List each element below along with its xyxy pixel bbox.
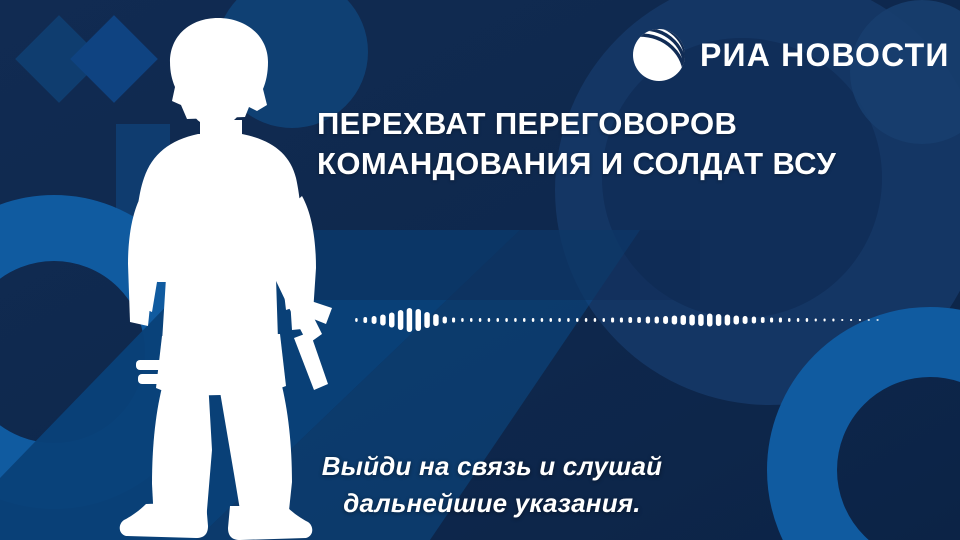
waveform-bar [823, 319, 825, 322]
waveform-bar [628, 317, 632, 323]
headline-line-1: ПЕРЕХВАТ ПЕРЕГОВОРОВ [317, 104, 942, 144]
waveform-bar [797, 318, 799, 322]
waveform-bar [505, 318, 507, 322]
waveform-bar [355, 318, 357, 322]
page-title: ПЕРЕХВАТ ПЕРЕГОВОРОВ КОМАНДОВАНИЯ И СОЛД… [317, 104, 942, 185]
waveform-bar [488, 318, 490, 322]
waveform-bar [514, 318, 516, 322]
waveform-bar [452, 318, 455, 323]
waveform-bar [398, 310, 403, 330]
ria-globe-icon [631, 27, 687, 83]
waveform-bar [681, 315, 686, 325]
waveform-bar [815, 319, 817, 322]
waveform-bar [363, 317, 367, 323]
waveform-bar [689, 315, 694, 326]
waveform-bar [850, 319, 852, 321]
caption-line-1: Выйди на связь и слушай [222, 448, 762, 485]
waveform-bar [806, 318, 808, 322]
waveform-bar [859, 319, 861, 321]
waveform-bar [611, 318, 614, 323]
waveform-bar [550, 318, 552, 322]
waveform-bar [841, 319, 843, 321]
waveform-bar [646, 317, 650, 324]
waveform-bar [752, 317, 756, 324]
waveform-bar [585, 318, 587, 322]
waveform-bar [707, 314, 712, 327]
waveform-bar [716, 314, 721, 326]
waveform-bar [832, 319, 834, 322]
waveform-bar [779, 318, 782, 323]
waveform-bar [655, 317, 659, 324]
waveform-bar [380, 315, 385, 326]
ria-wordmark: РИА НОВОСТИ [700, 39, 950, 71]
waveform-bar [470, 318, 472, 322]
waveform-bar [523, 318, 525, 322]
waveform-bar [576, 318, 578, 322]
waveform-bar [876, 319, 878, 320]
waveform-bar [389, 313, 394, 328]
caption-line-2: дальнейшие указания. [222, 485, 762, 522]
waveform-bar [407, 308, 412, 332]
waveform-bar [479, 318, 481, 322]
waveform-bar [788, 318, 790, 322]
waveform-bar [461, 318, 463, 322]
waveform-bar [761, 317, 765, 323]
waveform-bar [497, 318, 499, 322]
waveform-bar [567, 318, 569, 322]
waveform-bar [725, 315, 730, 326]
waveform-bar [770, 318, 773, 323]
waveform-bar [541, 318, 543, 322]
headline-line-2: КОМАНДОВАНИЯ И СОЛДАТ ВСУ [317, 144, 942, 184]
waveform-bar [433, 314, 438, 326]
waveform-bar [424, 312, 429, 328]
waveform-bar [594, 318, 596, 322]
waveform-bar [416, 309, 421, 331]
waveform-bar [734, 316, 739, 325]
waveform-bar [620, 318, 623, 323]
waveform-bar [637, 317, 641, 323]
waveform-bar [743, 316, 748, 324]
quote-caption: Выйди на связь и слушай дальнейшие указа… [222, 448, 762, 522]
ria-novosti-logo: РИА НОВОСТИ [631, 27, 950, 83]
waveform-bar [698, 314, 703, 326]
news-card: РИА НОВОСТИ ПЕРЕХВАТ ПЕРЕГОВОРОВ КОМАНДО… [0, 0, 960, 540]
waveform-bar [372, 316, 377, 324]
waveform-bar [558, 318, 560, 322]
waveform-bar [532, 318, 534, 322]
waveform-bar [672, 316, 677, 325]
audio-waveform-icon [352, 300, 882, 340]
waveform-bar [663, 316, 668, 324]
waveform-bar [868, 319, 870, 320]
waveform-bar [603, 318, 605, 322]
waveform-bar [443, 317, 447, 324]
